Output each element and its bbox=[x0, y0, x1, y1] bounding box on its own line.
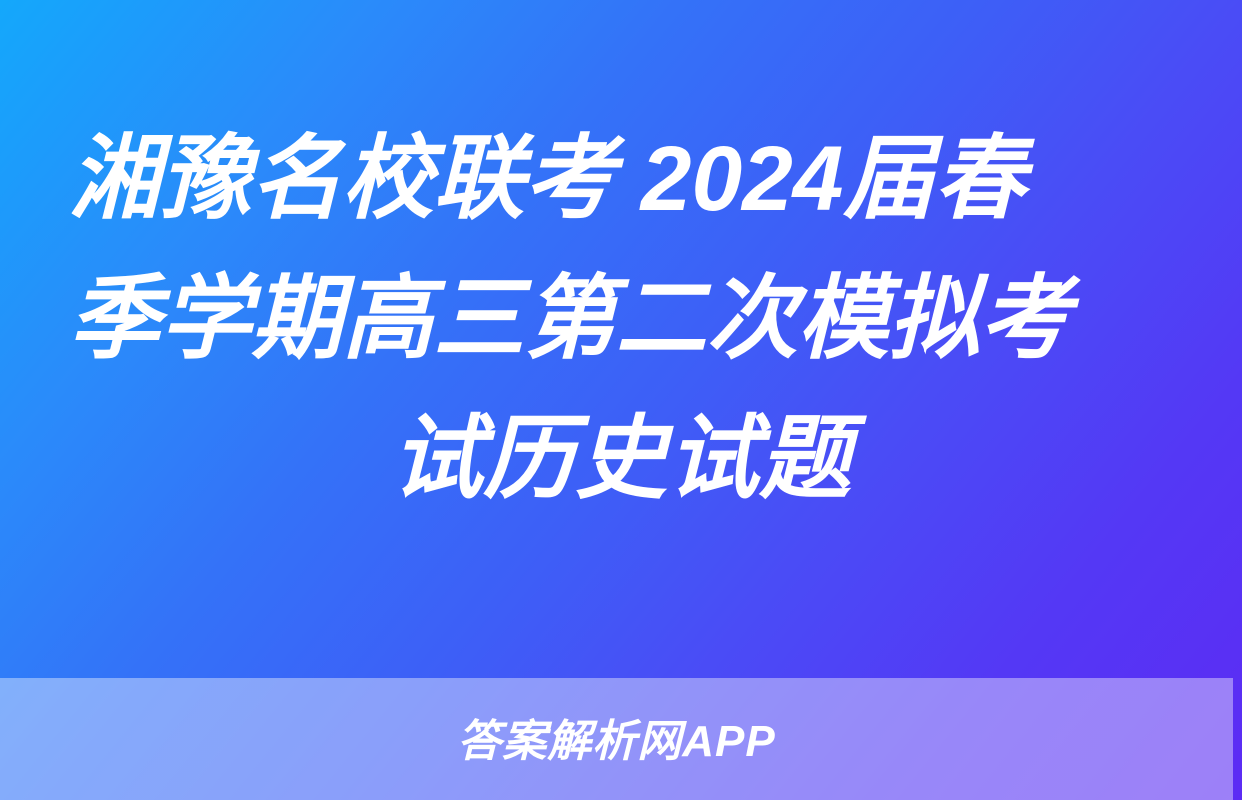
title-block: 湘豫名校联考 2024届春 季学期高三第二次模拟考 试历史试题 bbox=[0, 0, 1242, 678]
title-line-2: 季学期高三第二次模拟考 bbox=[69, 249, 1163, 389]
title-line-3: 试历史试题 bbox=[69, 389, 1174, 529]
poster-card: 湘豫名校联考 2024届春 季学期高三第二次模拟考 试历史试题 答案解析网APP bbox=[0, 0, 1242, 800]
page-title: 湘豫名校联考 2024届春 季学期高三第二次模拟考 试历史试题 bbox=[69, 109, 1174, 529]
watermark-label: 答案解析网APP bbox=[457, 716, 775, 768]
title-line-1: 湘豫名校联考 2024届春 bbox=[69, 109, 1163, 249]
watermark: 答案解析网APP bbox=[0, 678, 1233, 800]
